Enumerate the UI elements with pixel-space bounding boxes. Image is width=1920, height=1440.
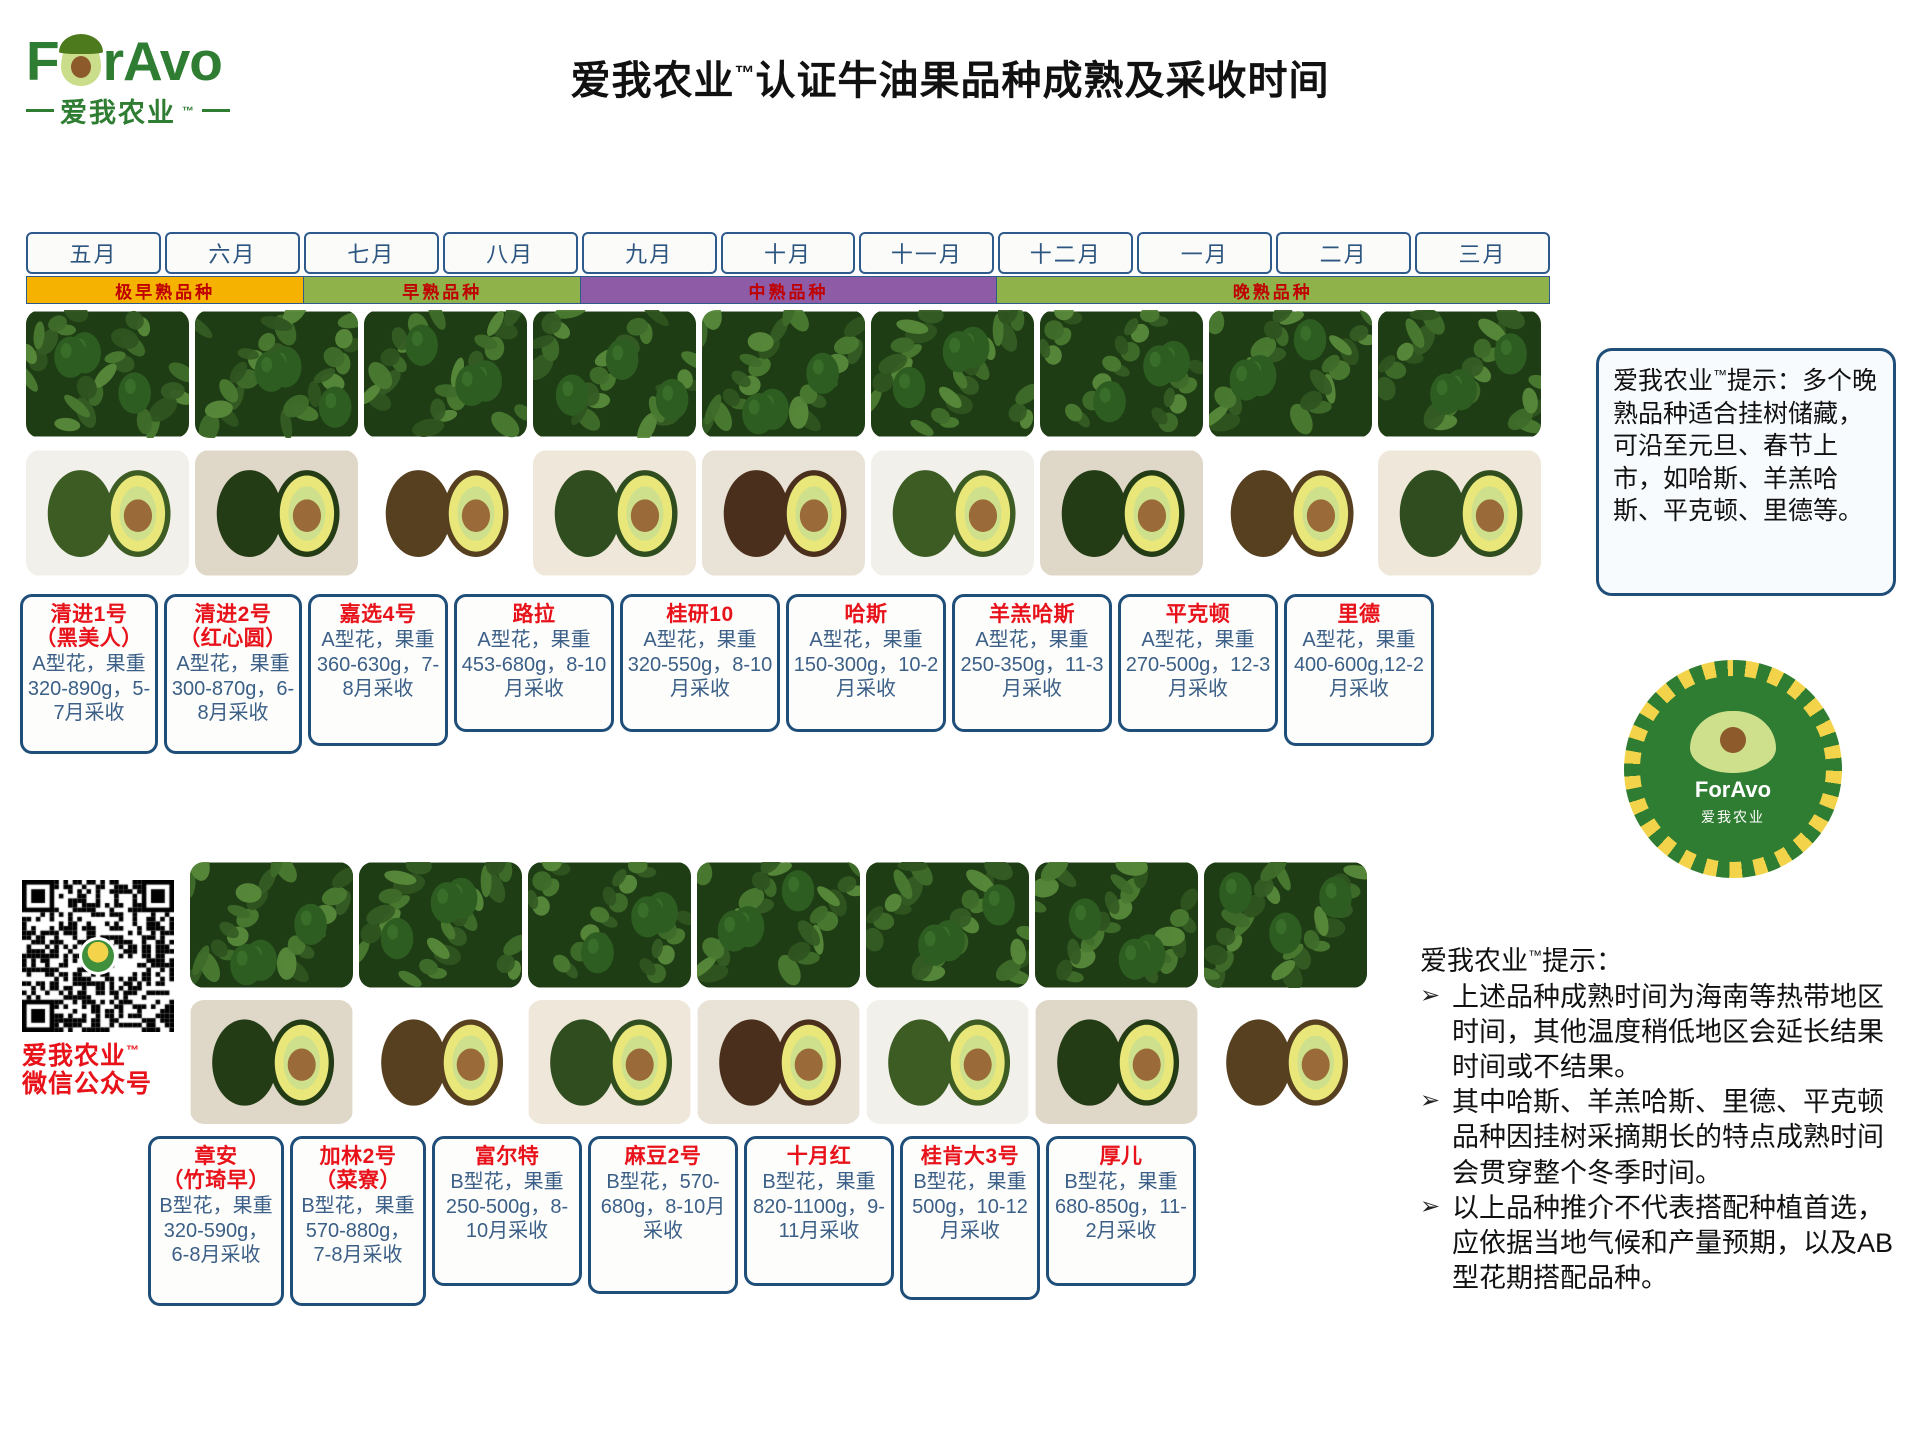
variety-tree-photo	[871, 310, 1034, 438]
variety-name: 章安	[155, 1145, 277, 1169]
variety-name: 路拉	[461, 603, 607, 627]
tip-box-header-post: 提示：	[1727, 367, 1802, 395]
variety-name: 嘉选4号	[315, 603, 441, 627]
variety-fruit-photo	[528, 1000, 691, 1124]
brand-logo-subtitle: 爱我农业 ™	[26, 91, 284, 130]
variety-tree-photo	[364, 310, 527, 438]
seal-avocado-icon	[1690, 711, 1776, 773]
variety-card[interactable]: 嘉选4号A型花，果重360-630g，7-8月采收	[308, 594, 448, 746]
tip-box-text: 爱我农业™提示：多个晚熟品种适合挂树储藏，可沿至元旦、春节上市，如哈斯、羊羔哈斯…	[1613, 365, 1879, 528]
note-item-text: 以上品种推介不代表搭配种植首选，应依据当地气候和产量预期，以及AB型花期搭配品种…	[1452, 1191, 1900, 1296]
note-item-text: 其中哈斯、羊羔哈斯、里德、平克顿品种因挂树采摘期长的特点成熟时间会贯穿整个冬季时…	[1452, 1085, 1900, 1190]
variety-tree-photo	[1209, 310, 1372, 438]
qr-center-logo-icon	[79, 937, 117, 975]
variety-card[interactable]: 麻豆2号B型花，570-680g，8-10月采收	[588, 1136, 738, 1294]
qr-caption-line2: 微信公众号	[22, 1070, 182, 1098]
photo-strip-row-a-tree	[26, 310, 1541, 438]
variety-tree-photo	[1204, 862, 1367, 988]
variety-alias: （竹琦早）	[155, 1169, 277, 1193]
variety-tree-photo	[533, 310, 696, 438]
variety-description: A型花，果重400-600g,12-2月采收	[1291, 628, 1427, 701]
variety-name: 羊羔哈斯	[959, 603, 1105, 627]
photo-strip-row-a-fruit	[26, 450, 1541, 576]
variety-card[interactable]: 平克顿A型花，果重270-500g，12-3月采收	[1118, 594, 1278, 732]
month-cell-4: 八月	[443, 232, 578, 274]
variety-card[interactable]: 厚儿B型花，果重680-850g，11-2月采收	[1046, 1136, 1196, 1286]
variety-description: B型花，570-680g，8-10月采收	[595, 1170, 731, 1243]
month-header-row: 五月六月七月八月九月十月十一月十二月一月二月三月	[26, 232, 1550, 274]
variety-fruit-photo	[533, 450, 696, 576]
photo-strip-row-b-fruit	[190, 1000, 1367, 1124]
arrow-bullet-icon: ➢	[1420, 980, 1444, 1011]
rule-right-icon	[202, 109, 230, 112]
variety-description: A型花，果重453-680g，8-10月采收	[461, 628, 607, 701]
variety-card[interactable]: 路拉A型花，果重453-680g，8-10月采收	[454, 594, 614, 732]
brand-logo-sub-text: 爱我农业	[60, 91, 176, 130]
variety-name: 清进1号	[27, 603, 151, 627]
qr-code[interactable]	[22, 880, 174, 1032]
variety-alias: （黑美人）	[27, 627, 151, 651]
variety-fruit-photo	[871, 450, 1034, 576]
brand-seal-logo: ForAvo 爱我农业	[1624, 660, 1842, 878]
variety-card-strip-row-a: 清进1号（黑美人）A型花，果重320-890g，5-7月采收清进2号（红心圆）A…	[20, 594, 1434, 754]
variety-fruit-photo	[359, 1000, 522, 1124]
month-cell-7: 十一月	[859, 232, 994, 274]
arrow-bullet-icon: ➢	[1420, 1191, 1444, 1222]
seal-inner: ForAvo 爱我农业	[1640, 676, 1826, 862]
qr-caption-trademark-icon: ™	[126, 1043, 140, 1058]
variety-fruit-photo	[1378, 450, 1541, 576]
maturity-band-2: 早熟品种	[304, 277, 581, 303]
note-item-text: 上述品种成熟时间为海南等热带地区时间，其他温度稍低地区会延长结果时间或不结果。	[1452, 980, 1900, 1085]
variety-name: 桂肯大3号	[907, 1145, 1033, 1169]
variety-name: 十月红	[751, 1145, 887, 1169]
variety-card[interactable]: 清进1号（黑美人）A型花，果重320-890g，5-7月采收	[20, 594, 158, 754]
month-cell-11: 三月	[1415, 232, 1550, 274]
month-cell-8: 十二月	[998, 232, 1133, 274]
variety-name: 平克顿	[1125, 603, 1271, 627]
notes-header-pre: 爱我农业	[1420, 946, 1528, 976]
maturity-band-4: 晚熟品种	[997, 277, 1549, 303]
avocado-icon	[59, 36, 103, 86]
page-title: 爱我农业™认证牛油果品种成熟及采收时间	[400, 48, 1500, 106]
variety-fruit-photo	[1040, 450, 1203, 576]
variety-alias: （红心圆）	[171, 627, 295, 651]
variety-tree-photo	[697, 862, 860, 988]
tip-box-late-varieties: 爱我农业™提示：多个晚熟品种适合挂树储藏，可沿至元旦、春节上市，如哈斯、羊羔哈斯…	[1596, 348, 1896, 596]
variety-description: A型花，果重300-870g，6-8月采收	[171, 652, 295, 725]
variety-tree-photo	[26, 310, 189, 438]
variety-name: 桂研10	[627, 603, 773, 627]
variety-tree-photo	[1040, 310, 1203, 438]
maturity-band-3: 中熟品种	[581, 277, 996, 303]
variety-name: 里德	[1291, 603, 1427, 627]
notes-block: 爱我农业™提示：➢上述品种成熟时间为海南等热带地区时间，其他温度稍低地区会延长结…	[1420, 944, 1900, 1296]
month-cell-3: 七月	[304, 232, 439, 274]
variety-tree-photo	[866, 862, 1029, 988]
month-cell-1: 五月	[26, 232, 161, 274]
variety-description: A型花，果重150-300g，10-2月采收	[793, 628, 939, 701]
variety-description: B型花，果重250-500g，8-10月采收	[439, 1170, 575, 1243]
month-cell-6: 十月	[721, 232, 856, 274]
variety-description: B型花，果重570-880g，7-8月采收	[297, 1194, 419, 1267]
trademark-icon: ™	[182, 104, 196, 118]
tip-box-header-pre: 爱我农业	[1613, 367, 1713, 395]
photo-strip-row-b-tree	[190, 862, 1367, 988]
variety-description: A型花，果重270-500g，12-3月采收	[1125, 628, 1271, 701]
variety-tree-photo	[1035, 862, 1198, 988]
variety-card[interactable]: 桂肯大3号B型花，果重500g，10-12月采收	[900, 1136, 1040, 1300]
variety-description: B型花，果重320-590g，6-8月采收	[155, 1194, 277, 1267]
variety-fruit-photo	[1035, 1000, 1198, 1124]
variety-fruit-photo	[866, 1000, 1029, 1124]
variety-tree-photo	[528, 862, 691, 988]
variety-description: A型花，果重360-630g，7-8月采收	[315, 628, 441, 701]
notes-header-post: 提示：	[1542, 946, 1623, 976]
variety-description: A型花，果重250-350g，11-3月采收	[959, 628, 1105, 701]
variety-card[interactable]: 加林2号（菜寮）B型花，果重570-880g，7-8月采收	[290, 1136, 426, 1306]
variety-fruit-photo	[1204, 1000, 1367, 1124]
variety-name: 加林2号	[297, 1145, 419, 1169]
variety-fruit-photo	[702, 450, 865, 576]
variety-name: 麻豆2号	[595, 1145, 731, 1169]
variety-description: A型花，果重320-550g，8-10月采收	[627, 628, 773, 701]
variety-card[interactable]: 富尔特B型花，果重250-500g，8-10月采收	[432, 1136, 582, 1286]
variety-description: B型花，果重680-850g，11-2月采收	[1053, 1170, 1189, 1243]
arrow-bullet-icon: ➢	[1420, 1085, 1444, 1116]
month-cell-10: 二月	[1276, 232, 1411, 274]
variety-tree-photo	[702, 310, 865, 438]
seal-wordmark: ForAvo	[1695, 777, 1771, 803]
variety-name: 厚儿	[1053, 1145, 1189, 1169]
tip-box-trademark-icon: ™	[1713, 367, 1727, 383]
variety-card[interactable]: 里德A型花，果重400-600g,12-2月采收	[1284, 594, 1434, 746]
note-item: ➢以上品种推介不代表搭配种植首选，应依据当地气候和产量预期，以及AB型花期搭配品…	[1420, 1191, 1900, 1296]
variety-alias: （菜寮）	[297, 1169, 419, 1193]
variety-card[interactable]: 桂研10A型花，果重320-550g，8-10月采收	[620, 594, 780, 732]
wechat-qr-block: 爱我农业™ 微信公众号	[22, 880, 182, 1098]
variety-tree-photo	[190, 862, 353, 988]
variety-fruit-photo	[190, 1000, 353, 1124]
rule-left-icon	[26, 109, 54, 112]
variety-description: B型花，果重820-1100g，9-11月采收	[751, 1170, 887, 1243]
brand-logo: FrAvo 爱我农业 ™	[26, 34, 284, 142]
logo-letter-f: F	[26, 30, 59, 92]
notes-trademark-icon: ™	[1528, 947, 1542, 963]
variety-name: 清进2号	[171, 603, 295, 627]
variety-fruit-photo	[26, 450, 189, 576]
variety-card[interactable]: 哈斯A型花，果重150-300g，10-2月采收	[786, 594, 946, 732]
variety-name: 哈斯	[793, 603, 939, 627]
variety-tree-photo	[1378, 310, 1541, 438]
variety-description: B型花，果重500g，10-12月采收	[907, 1170, 1033, 1243]
maturity-band-1: 极早熟品种	[27, 277, 304, 303]
variety-fruit-photo	[1209, 450, 1372, 576]
variety-tree-photo	[359, 862, 522, 988]
notes-header: 爱我农业™提示：	[1420, 944, 1900, 979]
variety-description: A型花，果重320-890g，5-7月采收	[27, 652, 151, 725]
variety-card[interactable]: 清进2号（红心圆）A型花，果重300-870g，6-8月采收	[164, 594, 302, 754]
maturity-band-row: 极早熟品种早熟品种中熟品种晚熟品种	[26, 276, 1550, 304]
variety-fruit-photo	[195, 450, 358, 576]
variety-card[interactable]: 十月红B型花，果重820-1100g，9-11月采收	[744, 1136, 894, 1286]
note-item: ➢上述品种成熟时间为海南等热带地区时间，其他温度稍低地区会延长结果时间或不结果。	[1420, 980, 1900, 1085]
variety-name: 富尔特	[439, 1145, 575, 1169]
variety-fruit-photo	[364, 450, 527, 576]
month-cell-9: 一月	[1137, 232, 1272, 274]
month-cell-5: 九月	[582, 232, 717, 274]
page-title-post: 认证牛油果品种成熟及采收时间	[756, 59, 1330, 103]
month-cell-2: 六月	[165, 232, 300, 274]
page-title-trademark-icon: ™	[735, 63, 756, 85]
variety-card-strip-row-b: 章安（竹琦早）B型花，果重320-590g，6-8月采收加林2号（菜寮）B型花，…	[148, 1136, 1196, 1306]
variety-card[interactable]: 羊羔哈斯A型花，果重250-350g，11-3月采收	[952, 594, 1112, 732]
seal-subtext: 爱我农业	[1701, 807, 1765, 827]
logo-letters-ravo: rAvo	[103, 30, 222, 92]
variety-tree-photo	[195, 310, 358, 438]
brand-logo-wordmark: FrAvo	[26, 34, 284, 89]
qr-caption-pre: 爱我农业	[22, 1042, 126, 1070]
page-title-pre: 爱我农业	[571, 59, 735, 103]
variety-card[interactable]: 章安（竹琦早）B型花，果重320-590g，6-8月采收	[148, 1136, 284, 1306]
variety-fruit-photo	[697, 1000, 860, 1124]
note-item: ➢其中哈斯、羊羔哈斯、里德、平克顿品种因挂树采摘期长的特点成熟时间会贯穿整个冬季…	[1420, 1085, 1900, 1190]
wechat-qr-caption: 爱我农业™ 微信公众号	[22, 1042, 182, 1098]
